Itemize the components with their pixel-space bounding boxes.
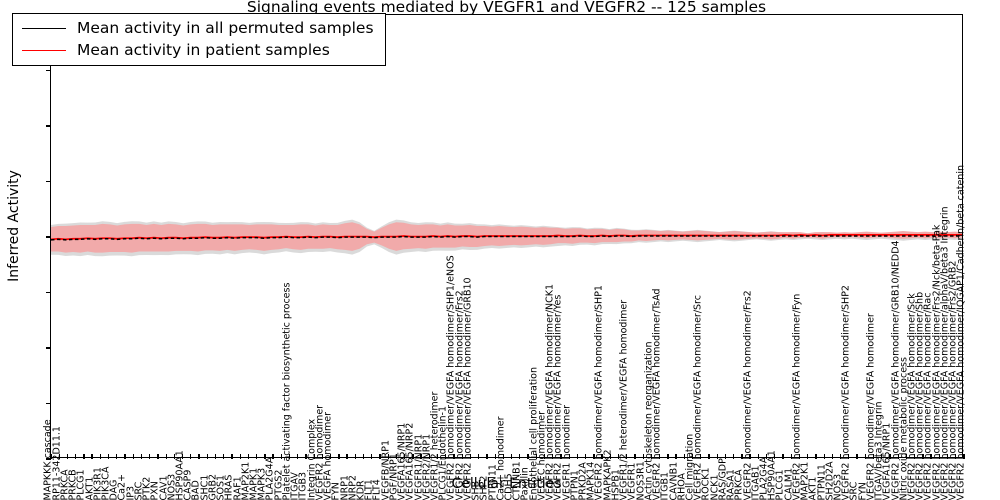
legend-entry-permuted: Mean activity in all permuted samples (22, 19, 374, 37)
chart-legend: Mean activity in all permuted samples Me… (12, 13, 386, 66)
x-tick-label: VEGFR2 homodimer/VEGFA homodimer/TsAd (653, 288, 663, 500)
legend-swatch-patient (22, 50, 66, 51)
chart-figure: Signaling events mediated by VEGFR1 and … (0, 0, 1000, 500)
x-tick-label: VEGFR2 homodimer/VEGFA homodimer/SHP2 (842, 285, 852, 500)
plot-area: −4−3−2−101234 (50, 14, 963, 458)
legend-entry-patient: Mean activity in patient samples (22, 41, 374, 59)
plot-canvas (51, 15, 962, 457)
legend-label-patient: Mean activity in patient samples (77, 41, 330, 59)
legend-label-permuted: Mean activity in all permuted samples (77, 19, 374, 37)
y-axis-label: Inferred Activity (6, 16, 22, 436)
x-tick-label: VEGFR2 homodimer/VEGFA homodimer/IQGAP1/… (957, 165, 967, 500)
x-tick-label: Platelet activating factor biosynthetic … (282, 282, 292, 500)
data-series-layer (51, 15, 962, 457)
x-tick-label: VEGFR2 homodimer/VEGFA homodimer/GRB10 (463, 277, 473, 500)
x-axis-tick-labels: MAPKKK cascadeRP11-342D11.1PRKCAPRKCBPLC… (50, 459, 963, 500)
legend-swatch-permuted (22, 28, 66, 29)
